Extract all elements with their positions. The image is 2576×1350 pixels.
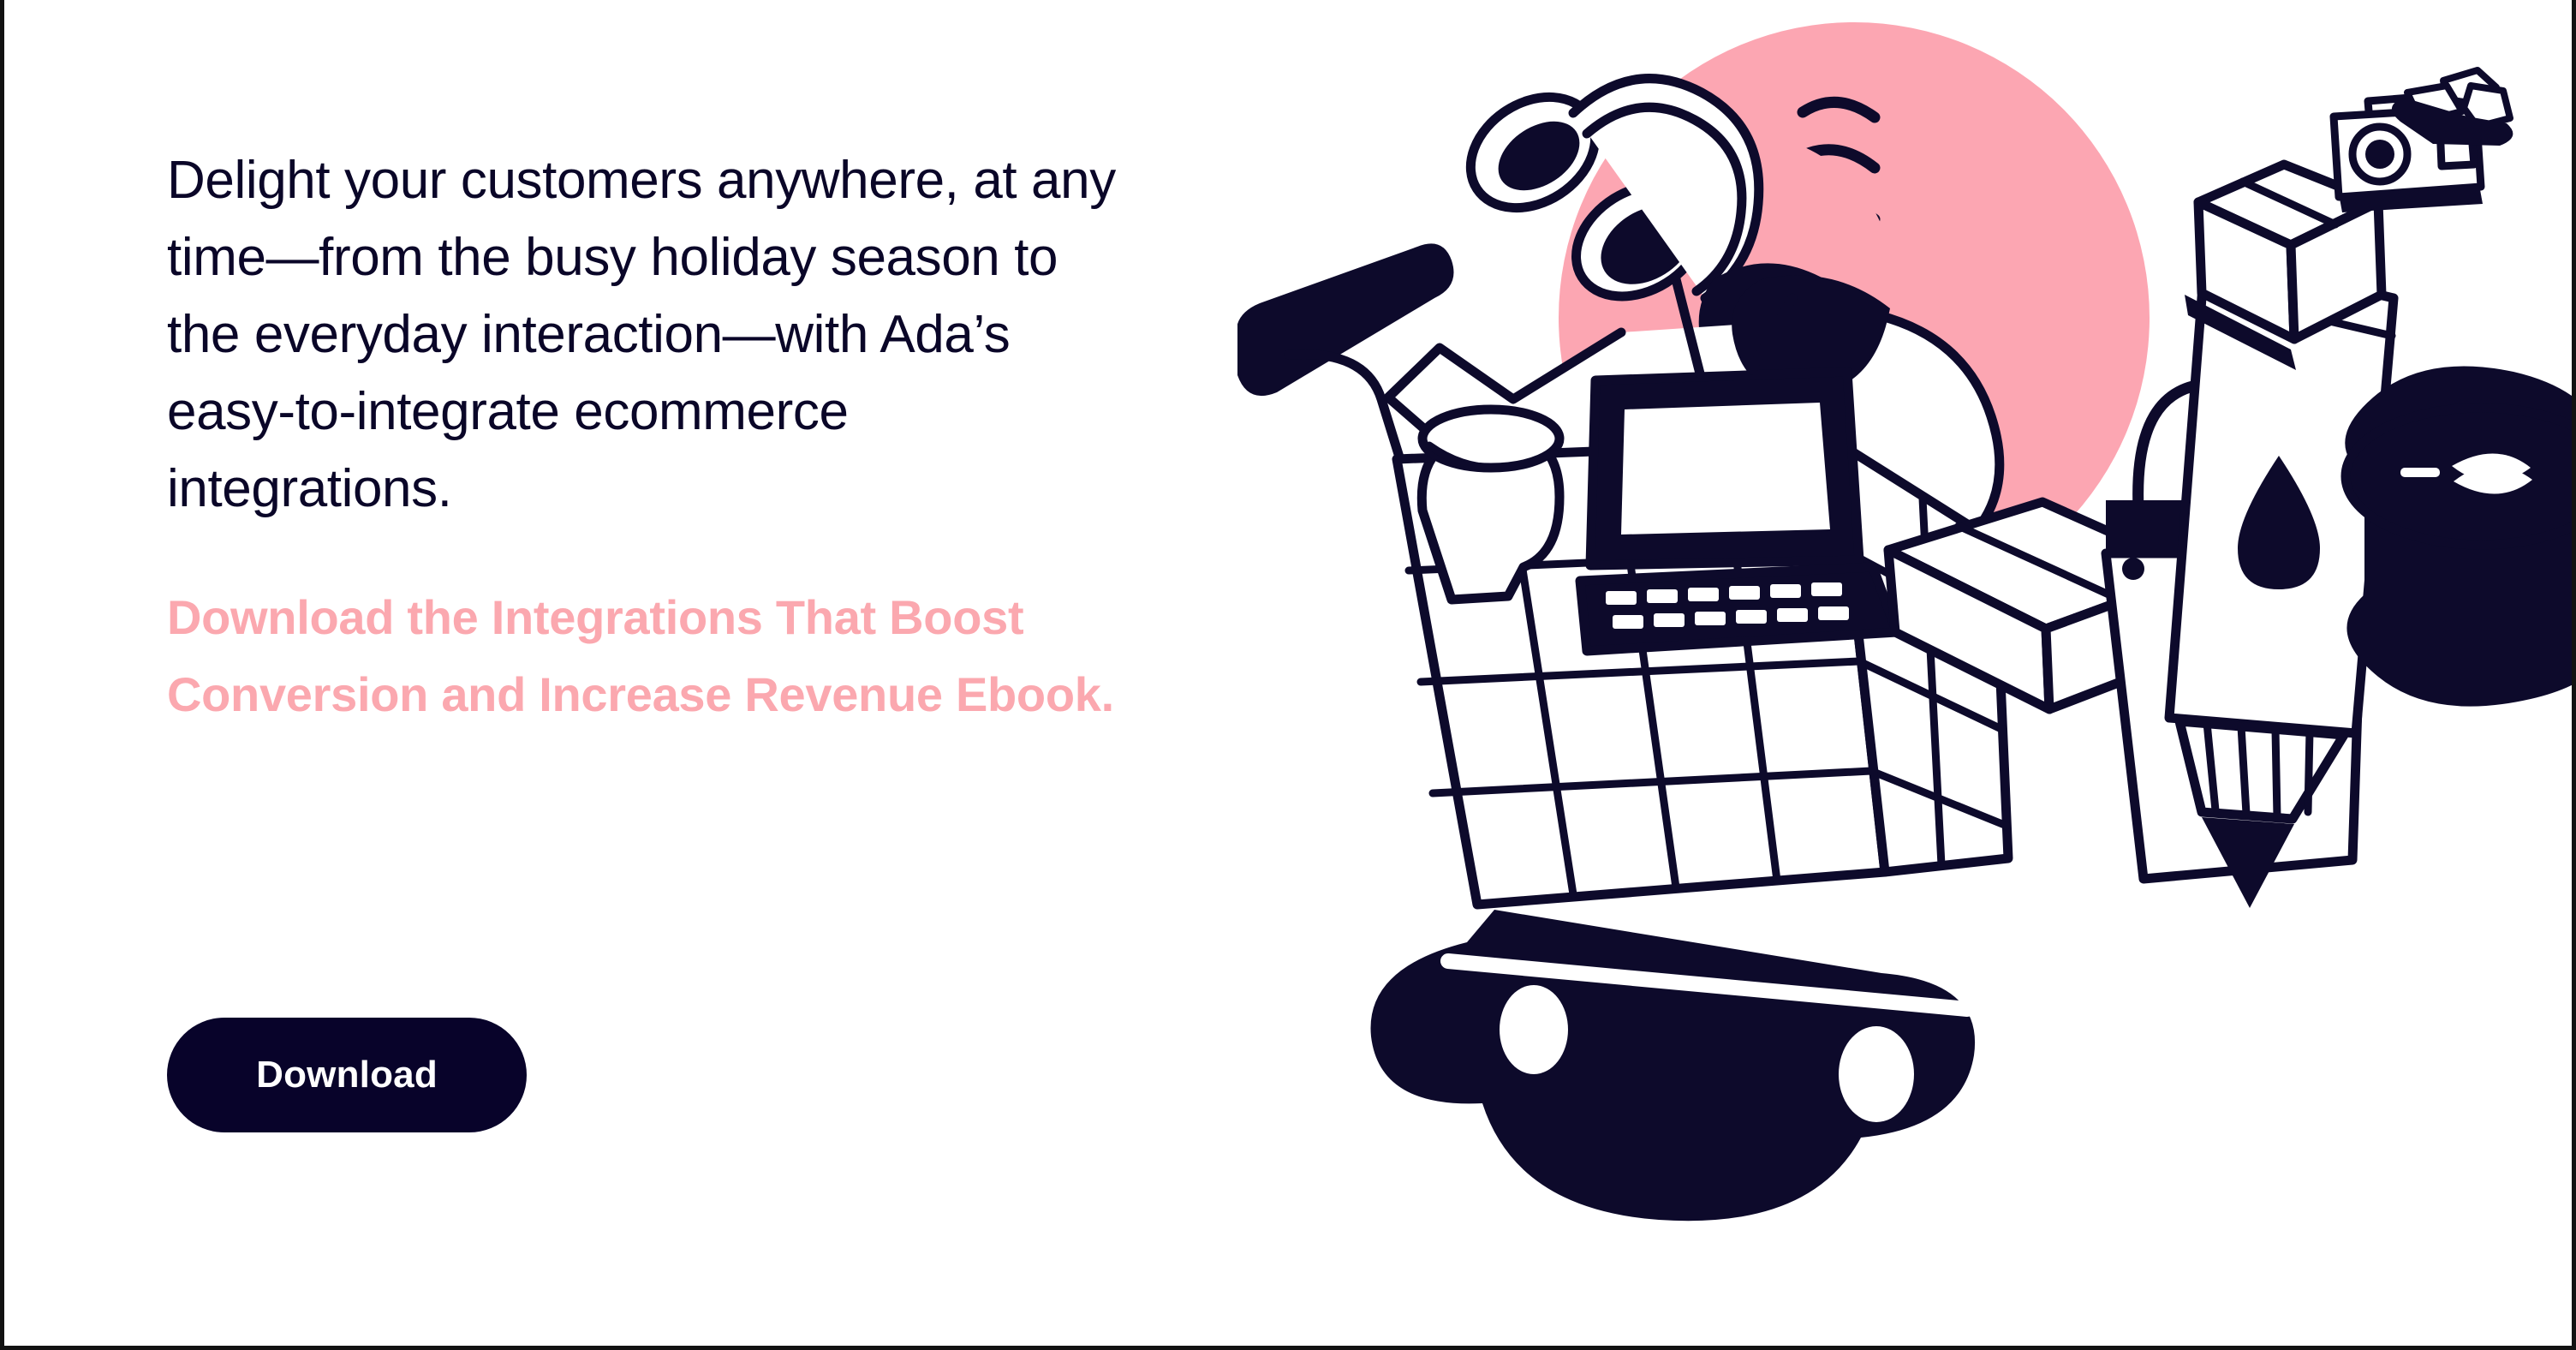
page-title: Delight your customers anywhere, at any … — [167, 142, 1126, 528]
cart-wheel-left — [1500, 985, 1568, 1074]
laptop-icon — [1580, 372, 1897, 651]
hero-illustration — [1237, 0, 2573, 1247]
cart-wheel-right — [1839, 1026, 1914, 1122]
ebook-download-link[interactable]: Download the Integrations That Boost Con… — [167, 579, 1126, 733]
promo-card: Delight your customers anywhere, at any … — [0, 0, 2576, 1350]
cart-wheel-back — [1995, 958, 2042, 1023]
download-button[interactable]: Download — [167, 1018, 527, 1132]
text-column: Delight your customers anywhere, at any … — [167, 142, 1126, 733]
cosmetic-jar-icon — [2345, 366, 2573, 706]
